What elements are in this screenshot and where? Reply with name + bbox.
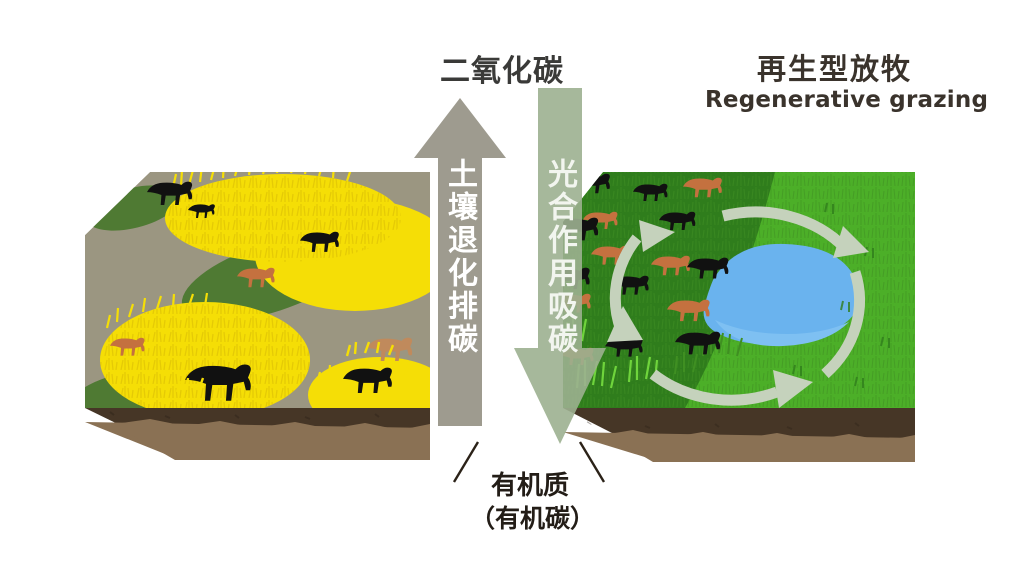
organic-matter-line1: 有机质 [470,470,590,503]
up-arrow-caption: 土壤退化排碳 [437,158,481,356]
infographic-root: 土壤退化排碳 光合作用吸碳 二氧化碳 再生型放牧 Regenerative gr… [0,0,1024,576]
organic-matter-line2: （有机碳） [470,503,590,534]
organic-matter-label: 有机质 （有机碳） [470,470,590,534]
down-arrow-caption: 光合作用吸碳 [537,158,581,356]
co2-title: 二氧化碳 [440,46,564,90]
regenerative-grazing-title-cn: 再生型放牧 [757,46,912,88]
left-dry-grass-texture [165,174,401,262]
regenerative-grazing-title-en: Regenerative grazing [705,87,988,113]
